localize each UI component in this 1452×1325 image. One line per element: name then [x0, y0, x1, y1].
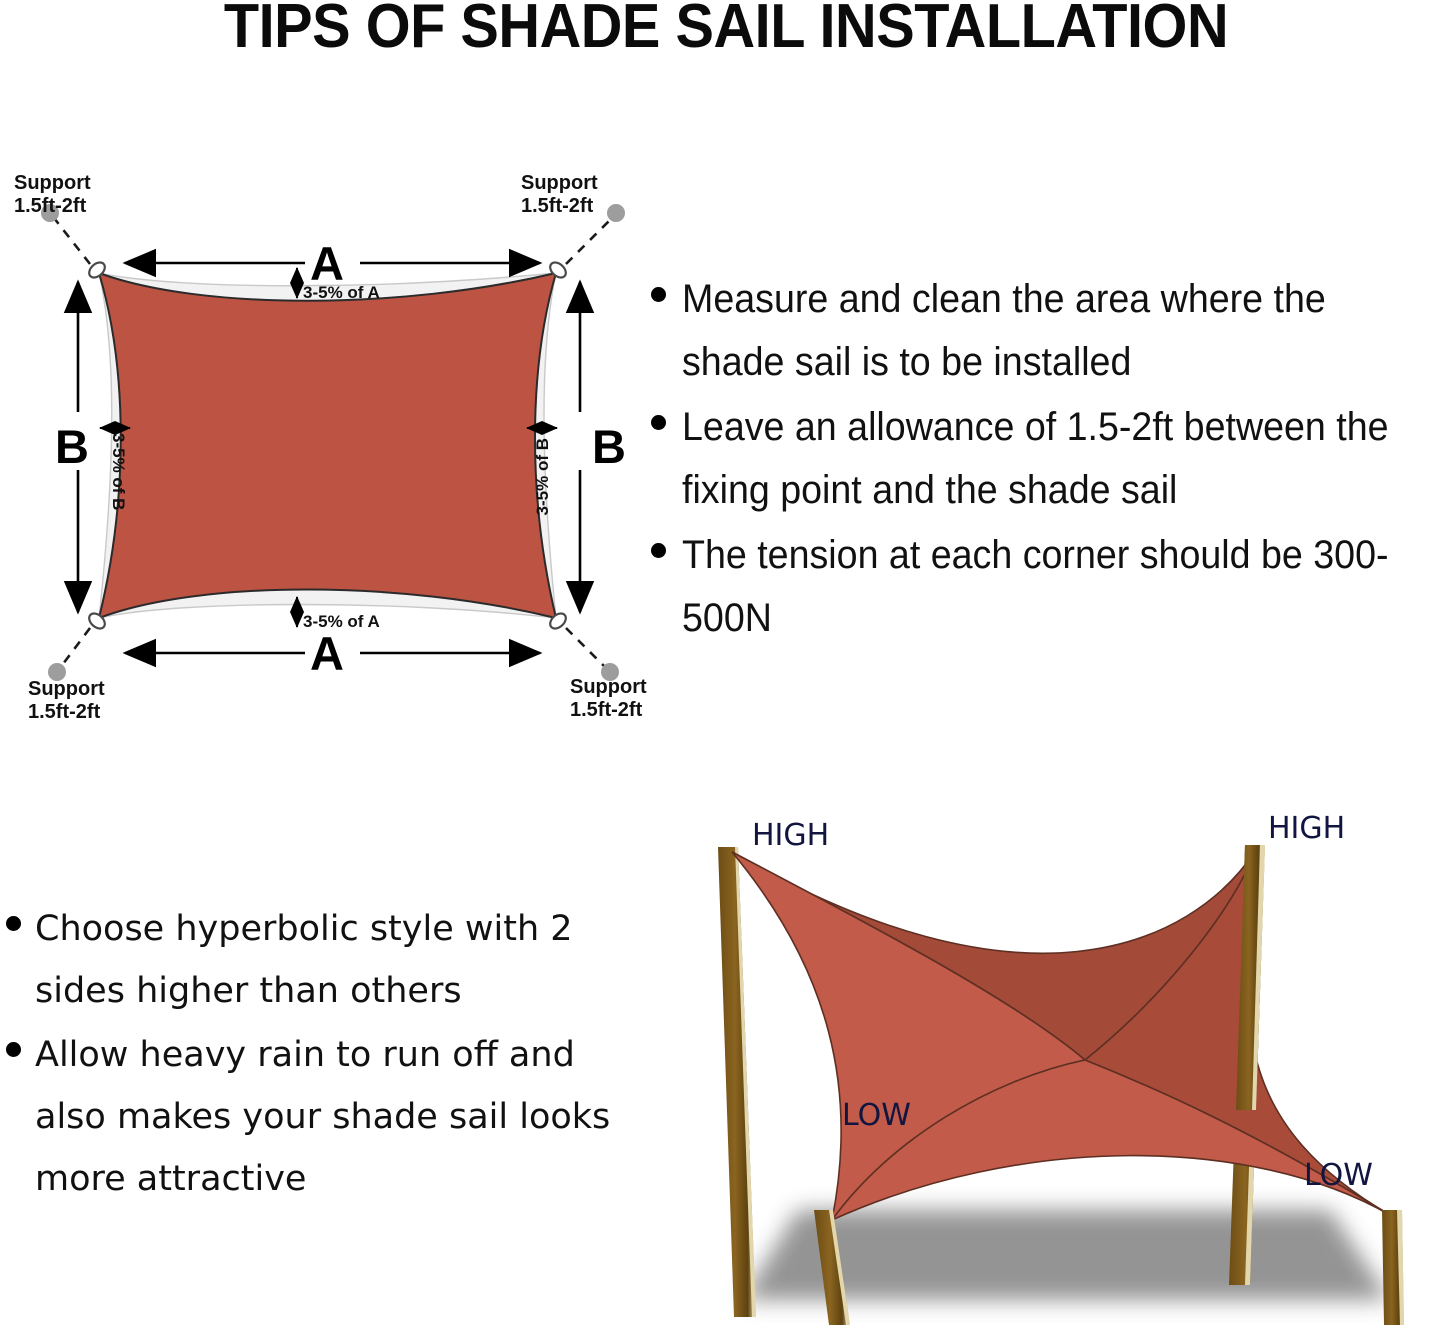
- installation-tips-list: Measure and clean the area where the sha…: [651, 268, 1452, 652]
- support-label-line2: 1.5ft-2ft: [14, 195, 87, 217]
- list-item: Choose hyperbolic style with 2 sides hig…: [6, 898, 626, 1022]
- curve-callout-top-label: 3-5% of A: [303, 283, 380, 302]
- label-high-left: HIGH: [752, 818, 829, 853]
- support-label-top-left: Support 1.5ft-2ft: [14, 172, 91, 217]
- support-label-bottom-right: Support 1.5ft-2ft: [570, 676, 647, 721]
- support-label-top-right: Support 1.5ft-2ft: [521, 172, 598, 217]
- dimension-letter-bottom: A: [310, 627, 344, 680]
- list-item: The tension at each corner should be 300…: [651, 524, 1452, 650]
- list-item-label: The tension at each corner should be 300…: [682, 524, 1406, 650]
- page-title: TIPS OF SHADE SAIL INSTALLATION: [51, 0, 1401, 61]
- support-label-line1: Support: [521, 172, 598, 194]
- bullet-dot-icon: [651, 287, 666, 302]
- hyperbolic-style-tips-list: Choose hyperbolic style with 2 sides hig…: [6, 898, 626, 1212]
- dimension-left-B: B: [55, 282, 89, 612]
- dimension-letter-right: B: [592, 420, 626, 473]
- dimension-right-B: B: [580, 282, 626, 612]
- support-label-line1: Support: [570, 676, 647, 698]
- label-low-left: LOW: [842, 1098, 911, 1133]
- support-label-line1: Support: [28, 678, 105, 700]
- bullet-dot-icon: [6, 1042, 21, 1057]
- bullet-dot-icon: [6, 916, 21, 931]
- list-item: Measure and clean the area where the sha…: [651, 268, 1452, 394]
- infographic-page: TIPS OF SHADE SAIL INSTALLATION: [0, 0, 1452, 1325]
- support-label-line2: 1.5ft-2ft: [521, 195, 594, 217]
- shade-sail-shape: [99, 273, 556, 618]
- bullet-dot-icon: [651, 415, 666, 430]
- support-label-bottom-left: Support 1.5ft-2ft: [28, 678, 105, 723]
- list-item-label: Leave an allowance of 1.5-2ft between th…: [682, 396, 1406, 522]
- dimension-letter-left: B: [55, 420, 89, 473]
- curve-callout-left-label: 3-5% of B: [109, 433, 128, 510]
- curve-callout-right-label: 3-5% of B: [533, 438, 552, 515]
- dimension-bottom-A: A: [125, 627, 540, 680]
- list-item: Leave an allowance of 1.5-2ft between th…: [651, 396, 1452, 522]
- support-label-line2: 1.5ft-2ft: [28, 701, 101, 723]
- support-label-line1: Support: [14, 172, 91, 194]
- list-item-label: Choose hyperbolic style with 2 sides hig…: [35, 898, 626, 1022]
- list-item: Allow heavy rain to run off and also mak…: [6, 1024, 626, 1210]
- hyperbolic-shade-sail-illustration: HIGH HIGH LOW LOW: [690, 790, 1452, 1325]
- label-high-right: HIGH: [1268, 811, 1345, 846]
- curve-callout-left: 3-5% of B: [100, 428, 130, 510]
- support-label-line2: 1.5ft-2ft: [570, 699, 643, 721]
- pole-high-left: [718, 847, 756, 1317]
- list-item-label: Measure and clean the area where the sha…: [682, 268, 1406, 394]
- list-item-label: Allow heavy rain to run off and also mak…: [35, 1024, 626, 1210]
- pole-low-right: [1382, 1210, 1404, 1325]
- bullet-dot-icon: [651, 543, 666, 558]
- curve-callout-bottom-label: 3-5% of A: [303, 612, 380, 631]
- rectangular-sail-diagram: Support 1.5ft-2ft Support 1.5ft-2ft Supp…: [0, 160, 660, 740]
- label-low-right: LOW: [1304, 1158, 1373, 1193]
